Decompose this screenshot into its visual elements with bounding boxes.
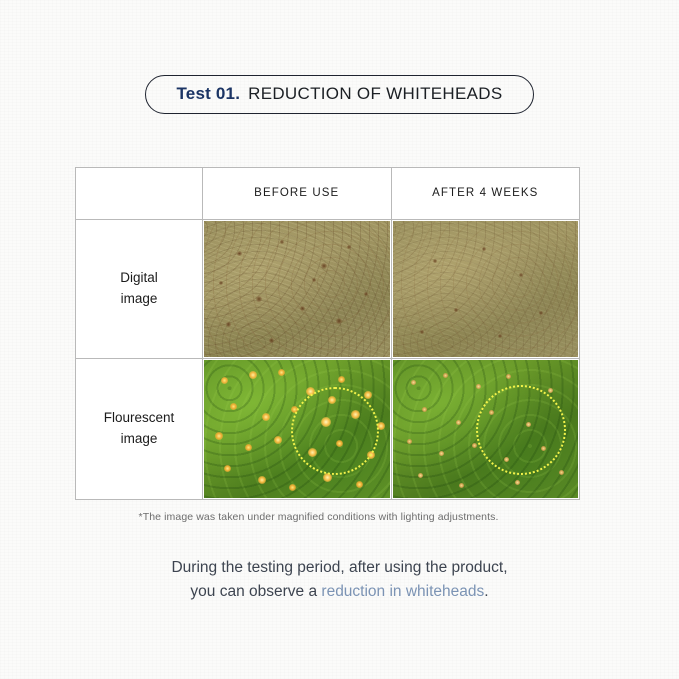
conclusion-accent-phrase: reduction in whiteheads	[321, 583, 484, 600]
whitehead-spot	[456, 420, 461, 425]
conclusion-line-2-suffix: .	[484, 583, 488, 600]
fluorescent-image-after	[392, 359, 580, 499]
pore-mark	[454, 308, 458, 312]
whitehead-spot	[364, 391, 372, 399]
highlight-circle-before	[291, 387, 379, 475]
whitehead-spot	[476, 384, 481, 389]
conclusion-line-2-prefix: you can observe a	[190, 583, 321, 600]
pore-mark	[321, 263, 327, 269]
conclusion-text: During the testing period, after using t…	[0, 556, 679, 604]
pore-mark	[539, 311, 543, 315]
pore-mark	[336, 318, 342, 324]
title-banner: Test 01. REDUCTION OF WHITEHEADS	[0, 75, 679, 114]
title-prefix: Test 01.	[176, 84, 240, 104]
fluorescent-image-before	[203, 359, 392, 499]
pore-mark	[519, 273, 523, 277]
pore-mark	[364, 292, 368, 296]
digital-photo-after	[393, 221, 579, 358]
infographic-page: Test 01. REDUCTION OF WHITEHEADS BEFORE …	[0, 0, 679, 679]
table-row-digital: Digital image	[76, 220, 579, 360]
pore-mark	[482, 247, 486, 251]
row-label-digital: Digital image	[76, 220, 203, 359]
skin-grain-after	[393, 221, 579, 358]
pore-mark	[256, 296, 262, 302]
pore-mark	[312, 278, 316, 282]
whitehead-spot	[258, 476, 266, 484]
whitehead-spot	[278, 369, 285, 376]
comparison-table: BEFORE USE AFTER 4 WEEKS Digital image	[75, 167, 580, 500]
row-label-digital-text: Digital image	[120, 268, 158, 310]
row-label-digital-line2: image	[121, 291, 158, 306]
row-label-fluorescent-line1: Flourescent	[104, 410, 175, 425]
skin-grain-before	[204, 221, 390, 358]
whitehead-spot	[221, 377, 228, 384]
fluorescent-photo-before	[204, 360, 390, 498]
conclusion-line-1: During the testing period, after using t…	[0, 556, 679, 580]
column-header-before: BEFORE USE	[254, 187, 339, 199]
header-cell-empty	[76, 168, 203, 219]
whitehead-spot	[506, 374, 511, 379]
whitehead-spot	[323, 473, 332, 482]
digital-photo-before	[204, 221, 390, 358]
header-cell-before: BEFORE USE	[203, 168, 392, 219]
whitehead-spot	[262, 413, 270, 421]
row-label-fluorescent-text: Flourescent image	[104, 408, 175, 450]
column-header-after: AFTER 4 WEEKS	[432, 187, 538, 199]
whitehead-spot	[249, 371, 257, 379]
digital-image-after	[392, 220, 580, 359]
title-main: REDUCTION OF WHITEHEADS	[248, 84, 502, 104]
header-cell-after: AFTER 4 WEEKS	[392, 168, 580, 219]
conclusion-line-2: you can observe a reduction in whitehead…	[0, 580, 679, 604]
row-label-fluorescent-line2: image	[121, 431, 158, 446]
whitehead-spot	[338, 376, 345, 383]
table-header-row: BEFORE USE AFTER 4 WEEKS	[76, 168, 579, 220]
whitehead-spot	[230, 403, 237, 410]
row-label-fluorescent: Flourescent image	[76, 359, 203, 499]
pore-mark	[219, 281, 223, 285]
whitehead-spot	[411, 380, 416, 385]
title-pill: Test 01. REDUCTION OF WHITEHEADS	[145, 75, 533, 114]
highlight-circle-after	[476, 385, 566, 475]
table-row-fluorescent: Flourescent image	[76, 359, 579, 499]
whitehead-spot	[443, 373, 448, 378]
fluorescent-photo-after	[393, 360, 579, 498]
digital-image-before	[203, 220, 392, 359]
footnote: *The image was taken under magnified con…	[0, 511, 679, 523]
row-label-digital-line1: Digital	[120, 270, 158, 285]
pore-mark	[280, 240, 284, 244]
